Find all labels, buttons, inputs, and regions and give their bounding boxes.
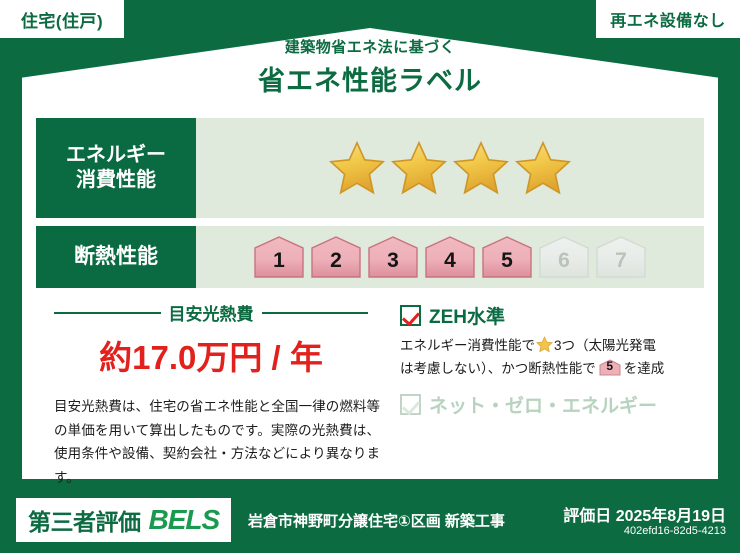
energy-performance-row: エネルギー 消費性能 <box>36 118 704 218</box>
zeh-desc-part3: を達成 <box>624 361 665 376</box>
energy-performance-label-line2: 消費性能 <box>76 168 156 193</box>
header-titles: 建築物省エネ法に基づく 省エネ性能ラベル <box>0 36 740 98</box>
insulation-level-number: 1 <box>273 250 285 279</box>
insulation-level-number: 6 <box>558 250 570 279</box>
utility-cost-heading-label: 目安光熱費 <box>169 300 254 325</box>
insulation-level-number: 5 <box>501 250 513 279</box>
energy-performance-value <box>196 118 704 218</box>
utility-cost-section: 目安光熱費 約17.0万円 / 年 目安光熱費は、住宅の省エネ性能と全国一律の燃… <box>36 296 386 466</box>
zeh-desc-part1: エネルギー消費性能で <box>400 338 535 353</box>
check-icon <box>400 305 421 326</box>
zeh-title-row: ZEH水準 <box>400 302 704 329</box>
insulation-level-4: 4 <box>424 235 476 279</box>
zeh-desc-part2: は考慮しない）、かつ断熱性能で <box>400 361 596 376</box>
bels-logo-en: BELS <box>149 504 220 536</box>
page-title: 省エネ性能ラベル <box>0 59 740 98</box>
star-icon <box>328 140 386 196</box>
insulation-level-number: 4 <box>444 250 456 279</box>
utility-cost-value: 約17.0万円 / 年 <box>36 331 386 379</box>
zeh-section: ZEH水準 エネルギー消費性能で3つ（太陽光発電は考慮しない）、かつ断熱性能で5… <box>386 296 704 466</box>
heading-rule-right <box>262 312 369 314</box>
lower-content: 目安光熱費 約17.0万円 / 年 目安光熱費は、住宅の省エネ性能と全国一律の燃… <box>36 296 704 466</box>
insulation-level-badge-inline: 5 <box>599 359 621 376</box>
bels-logo-jp: 第三者評価 <box>28 503 141 537</box>
energy-performance-label-line1: エネルギー <box>66 143 166 168</box>
insulation-performance-label: 断熱性能 <box>36 226 196 288</box>
energy-performance-label: エネルギー 消費性能 <box>36 118 196 218</box>
main-panel: エネルギー 消費性能 断熱性能 1234567 目安光熱費 <box>22 104 718 479</box>
badge-renewable-equipment: 再エネ設備なし <box>596 0 740 38</box>
check-icon-empty <box>400 394 421 415</box>
bels-energy-label: 住宅(住戸) 再エネ設備なし 建築物省エネ法に基づく 省エネ性能ラベル エネルギ… <box>0 0 740 553</box>
insulation-level-number: 2 <box>330 250 342 279</box>
insulation-performance-value: 1234567 <box>196 226 704 288</box>
zeh-description: エネルギー消費性能で3つ（太陽光発電は考慮しない）、かつ断熱性能で5を達成 <box>400 335 704 381</box>
insulation-level-7: 7 <box>595 235 647 279</box>
nze-title-row: ネット・ゼロ・エネルギー <box>400 391 704 418</box>
insulation-level-badge-value: 5 <box>599 356 621 376</box>
footer-bar: 第三者評価 BELS 岩倉市神野町分譲住宅①区画 新築工事 評価日 2025年8… <box>0 488 740 553</box>
nze-title: ネット・ゼロ・エネルギー <box>429 391 657 418</box>
insulation-level-6: 6 <box>538 235 590 279</box>
header-subtitle: 建築物省エネ法に基づく <box>0 36 740 57</box>
insulation-level-scale: 1234567 <box>253 235 647 279</box>
badge-renewable-equipment-label: 再エネ設備なし <box>610 7 726 31</box>
utility-cost-heading: 目安光熱費 <box>36 300 386 325</box>
insulation-level-1: 1 <box>253 235 305 279</box>
evaluation-id: 402efd16-82d5-4213 <box>624 525 726 537</box>
zeh-desc-stars: 3つ（太陽光発電 <box>554 338 656 353</box>
bels-logo: 第三者評価 BELS <box>16 498 231 542</box>
star-icon <box>514 140 572 196</box>
insulation-level-number: 3 <box>387 250 399 279</box>
utility-cost-note: 目安光熱費は、住宅の省エネ性能と全国一律の燃料等の単価を用いて算出したものです。… <box>36 395 386 490</box>
star-icon <box>452 140 510 196</box>
insulation-level-3: 3 <box>367 235 419 279</box>
insulation-performance-row: 断熱性能 1234567 <box>36 226 704 288</box>
star-rating <box>328 140 572 196</box>
heading-rule-left <box>54 312 161 314</box>
insulation-level-2: 2 <box>310 235 362 279</box>
star-icon-inline <box>536 336 553 353</box>
badge-housing-type-label: 住宅(住戸) <box>21 7 103 32</box>
insulation-level-5: 5 <box>481 235 533 279</box>
insulation-level-number: 7 <box>615 250 627 279</box>
evaluation-date: 評価日 2025年8月19日 <box>563 502 726 526</box>
star-icon <box>390 140 448 196</box>
badge-housing-type: 住宅(住戸) <box>0 0 124 38</box>
insulation-performance-label-text: 断熱性能 <box>74 244 158 270</box>
zeh-title: ZEH水準 <box>429 302 505 329</box>
building-name: 岩倉市神野町分譲住宅①区画 新築工事 <box>248 510 505 531</box>
